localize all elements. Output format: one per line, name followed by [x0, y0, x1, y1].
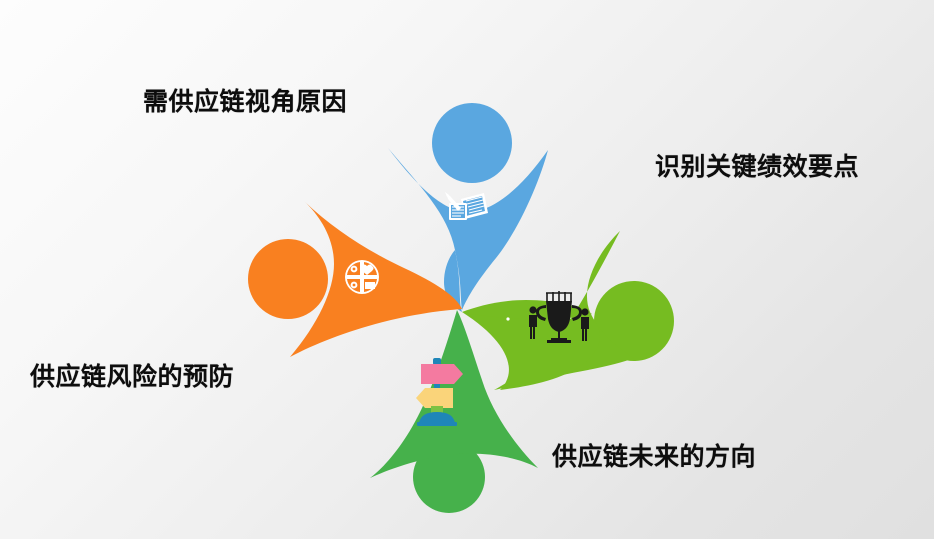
- petal-group-left[interactable]: [248, 201, 462, 357]
- pie-quadrant-icon: [345, 260, 379, 294]
- label-bottom-left[interactable]: 供应链风险的预防: [30, 363, 234, 391]
- trophy-crown-glyph: [546, 291, 572, 301]
- slide-canvas: 需供应链视角原因 识别关键绩效要点 供应链风险的预防 供应链未来的方向: [0, 0, 934, 539]
- label-top-left[interactable]: 需供应链视角原因: [143, 88, 347, 116]
- sign-arrow-yellow: [416, 388, 453, 408]
- head-circle-top: [432, 103, 512, 183]
- signpost-ground: [417, 422, 457, 426]
- pinwheel-diagram: [0, 0, 934, 539]
- label-bottom-right[interactable]: 供应链未来的方向: [552, 443, 756, 471]
- head-circle-left: [248, 239, 328, 319]
- label-top-right[interactable]: 识别关键绩效要点: [655, 153, 859, 181]
- sparkle-dot: [506, 317, 509, 320]
